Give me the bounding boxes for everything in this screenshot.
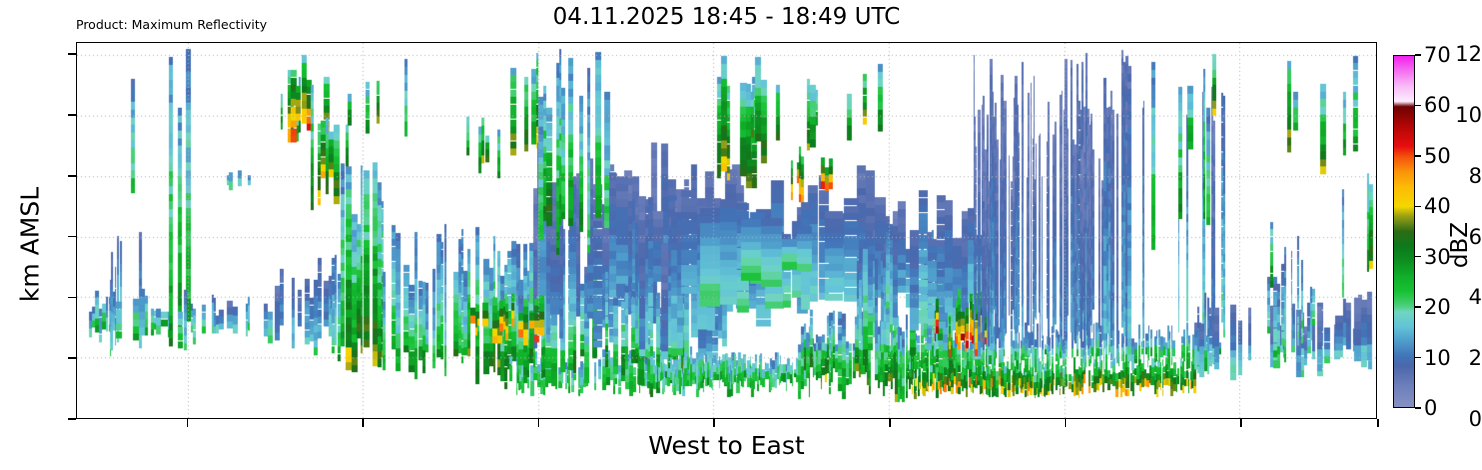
x-tick-mark — [538, 419, 540, 427]
x-tick-mark — [1377, 419, 1379, 427]
y-tick-mark — [68, 418, 76, 420]
reflectivity-heatmap — [77, 43, 1376, 418]
x-tick-mark — [362, 419, 364, 427]
colorbar-tick-label: 60 — [1424, 93, 1451, 117]
x-tick-mark — [187, 419, 189, 427]
colorbar-tick-label: 70 — [1424, 43, 1451, 67]
y-tick-mark — [68, 175, 76, 177]
x-tick-mark — [1240, 419, 1242, 427]
colorbar-tick-mark — [1415, 206, 1421, 207]
colorbar-tick-label: 0 — [1424, 396, 1437, 420]
y-tick-mark — [68, 297, 76, 299]
colorbar-tick-mark — [1415, 256, 1421, 257]
colorbar-label: dBZ — [1447, 175, 1473, 315]
colorbar-tick-mark — [1415, 357, 1421, 358]
x-axis-label: West to East — [76, 431, 1377, 460]
x-tick-mark — [713, 419, 715, 427]
colorbar-tick-mark — [1415, 306, 1421, 307]
colorbar-tick-mark — [1415, 407, 1421, 408]
colorbar-gradient — [1394, 56, 1414, 407]
y-tick-mark — [68, 357, 76, 359]
y-axis-label: km AMSL — [16, 55, 45, 435]
colorbar-tick-mark — [1415, 155, 1421, 156]
colorbar-tick-label: 10 — [1424, 346, 1451, 370]
colorbar-tick-mark — [1415, 105, 1421, 106]
y-tick-mark — [68, 114, 76, 116]
x-tick-mark — [1065, 419, 1067, 427]
radar-figure: Product: Maximum Reflectivity 04.11.2025… — [0, 0, 1482, 470]
colorbar — [1393, 55, 1415, 408]
page-title: 04.11.2025 18:45 - 18:49 UTC — [76, 4, 1377, 30]
colorbar-tick-mark — [1415, 54, 1421, 55]
y-tick-mark — [68, 53, 76, 55]
y-tick-mark — [68, 236, 76, 238]
colorbar-tick-label: 50 — [1424, 144, 1451, 168]
x-tick-mark — [889, 419, 891, 427]
plot-area — [76, 42, 1377, 419]
